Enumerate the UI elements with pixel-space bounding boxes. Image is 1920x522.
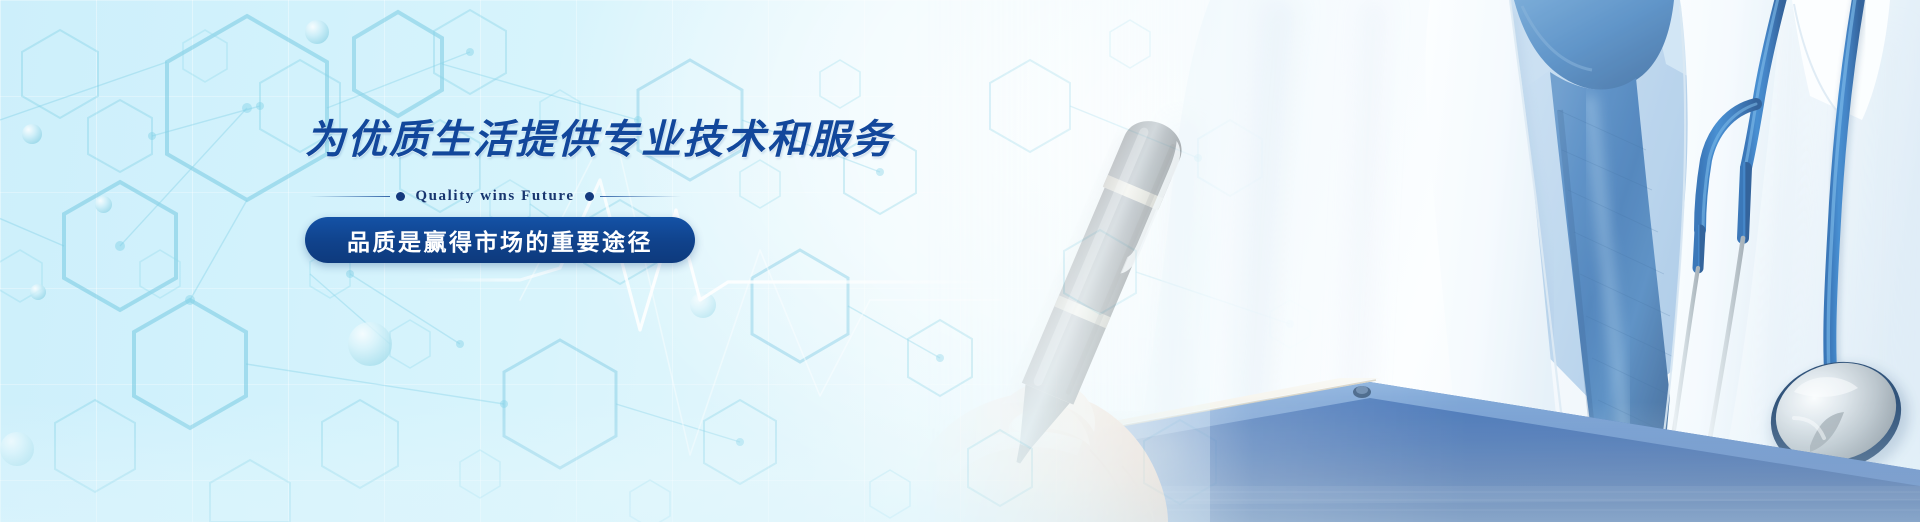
tagline-rule-right [600, 196, 681, 197]
cta-button[interactable]: 品质是赢得市场的重要途径 [305, 217, 695, 263]
dot-icon [585, 192, 594, 201]
tagline-rule-left [309, 196, 390, 197]
tagline-text: Quality wins Future [411, 188, 578, 205]
medical-hero-banner: 为优质生活提供专业技术和服务 Quality wins Future 品质是赢得… [0, 0, 1920, 522]
doctor-photo [910, 0, 1920, 522]
dot-icon [396, 192, 405, 201]
banner-content: 为优质生活提供专业技术和服务 Quality wins Future 品质是赢得… [305, 118, 925, 263]
page-title: 为优质生活提供专业技术和服务 [305, 118, 925, 162]
tagline-row: Quality wins Future [309, 188, 681, 205]
